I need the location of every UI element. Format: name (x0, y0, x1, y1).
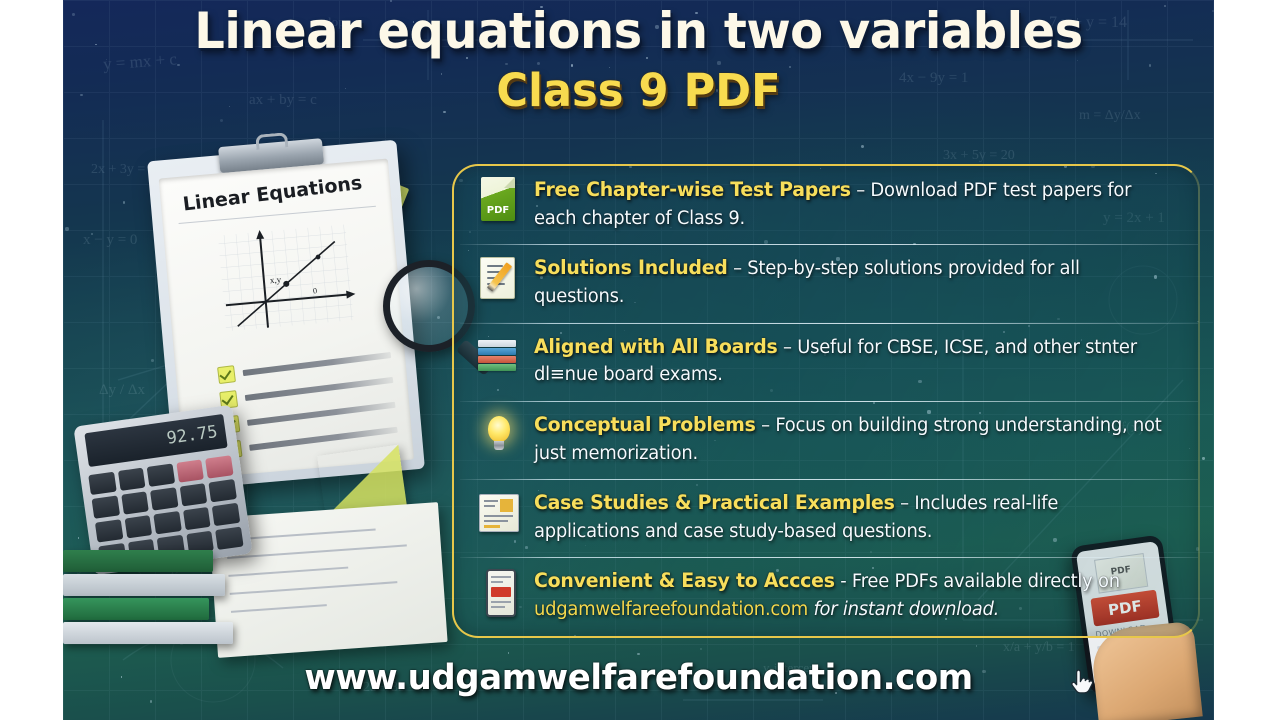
feature-text: Free Chapter-wise Test Papers – Download… (534, 175, 1165, 232)
feature-row: Free Chapter-wise Test Papers – Download… (454, 166, 1198, 244)
svg-text:0: 0 (313, 286, 318, 295)
pointer-hand-icon (1070, 668, 1096, 698)
equation-checklist (217, 349, 399, 464)
feature-row: Aligned with All Boards – Useful for CBS… (454, 323, 1198, 401)
footer: www.udgamwelfarefoundation.com (63, 658, 1214, 698)
background-speck (637, 653, 640, 656)
background-speck (976, 645, 977, 646)
feature-dash: – (728, 258, 748, 279)
feature-heading: Conceptual Problems (534, 413, 756, 436)
feature-text: Conceptual Problems – Focus on building … (534, 410, 1165, 467)
feature-dash: - (835, 571, 852, 592)
background-speck (1202, 457, 1204, 459)
page-title: Linear equations in two variables (86, 6, 1191, 56)
pdf-file-icon (476, 177, 522, 229)
feature-row: Solutions Included – Step-by-step soluti… (454, 244, 1198, 322)
background-equation: 3x + 5y = 20 (943, 148, 1015, 164)
feature-heading: Aligned with All Boards (534, 335, 778, 358)
feature-row: Conceptual Problems – Focus on building … (454, 401, 1198, 479)
svg-text:x,y: x,y (269, 274, 282, 285)
check-icon (217, 365, 236, 384)
feature-text: Case Studies & Practical Examples – Incl… (534, 488, 1165, 545)
title-block: Linear equations in two variables Class … (63, 6, 1214, 113)
mobile-phone-icon (476, 568, 522, 620)
background-speck (700, 648, 702, 650)
website-link[interactable]: udgamwelfareefoundation.com (534, 599, 808, 620)
lightbulb-icon (476, 412, 522, 464)
feature-row: Case Studies & Practical Examples – Incl… (454, 479, 1198, 557)
feature-dash: – (851, 180, 871, 201)
feature-dash: – (778, 337, 798, 358)
background-speck (861, 145, 864, 148)
feature-heading: Free Chapter-wise Test Papers (534, 178, 851, 201)
stacked-books-icon (476, 334, 522, 386)
study-materials-illustration: Linear Equations x,y (63, 120, 483, 720)
feature-text: Solutions Included – Step-by-step soluti… (534, 253, 1165, 310)
feature-dash: – (895, 493, 915, 514)
newspaper-icon (476, 490, 522, 542)
features-panel: Free Chapter-wise Test Papers – Download… (452, 164, 1200, 638)
feature-heading: Solutions Included (534, 256, 728, 279)
document-pencil-icon (476, 255, 522, 307)
feature-text: Convenient & Easy to Accces - Free PDFs … (534, 566, 1165, 623)
feature-dash: – (756, 415, 776, 436)
background-speck (508, 652, 510, 654)
feature-body-pre: Free PDFs available directly on (852, 571, 1120, 592)
feature-heading: Convenient & Easy to Accces (534, 569, 835, 592)
feature-row: Convenient & Easy to Accces - Free PDFs … (454, 557, 1198, 635)
feature-heading: Case Studies & Practical Examples (534, 491, 895, 514)
infographic-poster: y = mx + cax + by = c2x + 3y = 12x − y =… (63, 0, 1214, 720)
line-graph-sketch: x,y 0 (211, 220, 360, 342)
footer-website-url[interactable]: www.udgamwelfarefoundation.com (304, 658, 972, 698)
page-subtitle: Class 9 PDF (86, 68, 1191, 113)
feature-text: Aligned with All Boards – Useful for CBS… (534, 332, 1165, 389)
feature-body-post: for instant download. (808, 599, 999, 620)
stacked-books (63, 550, 238, 670)
